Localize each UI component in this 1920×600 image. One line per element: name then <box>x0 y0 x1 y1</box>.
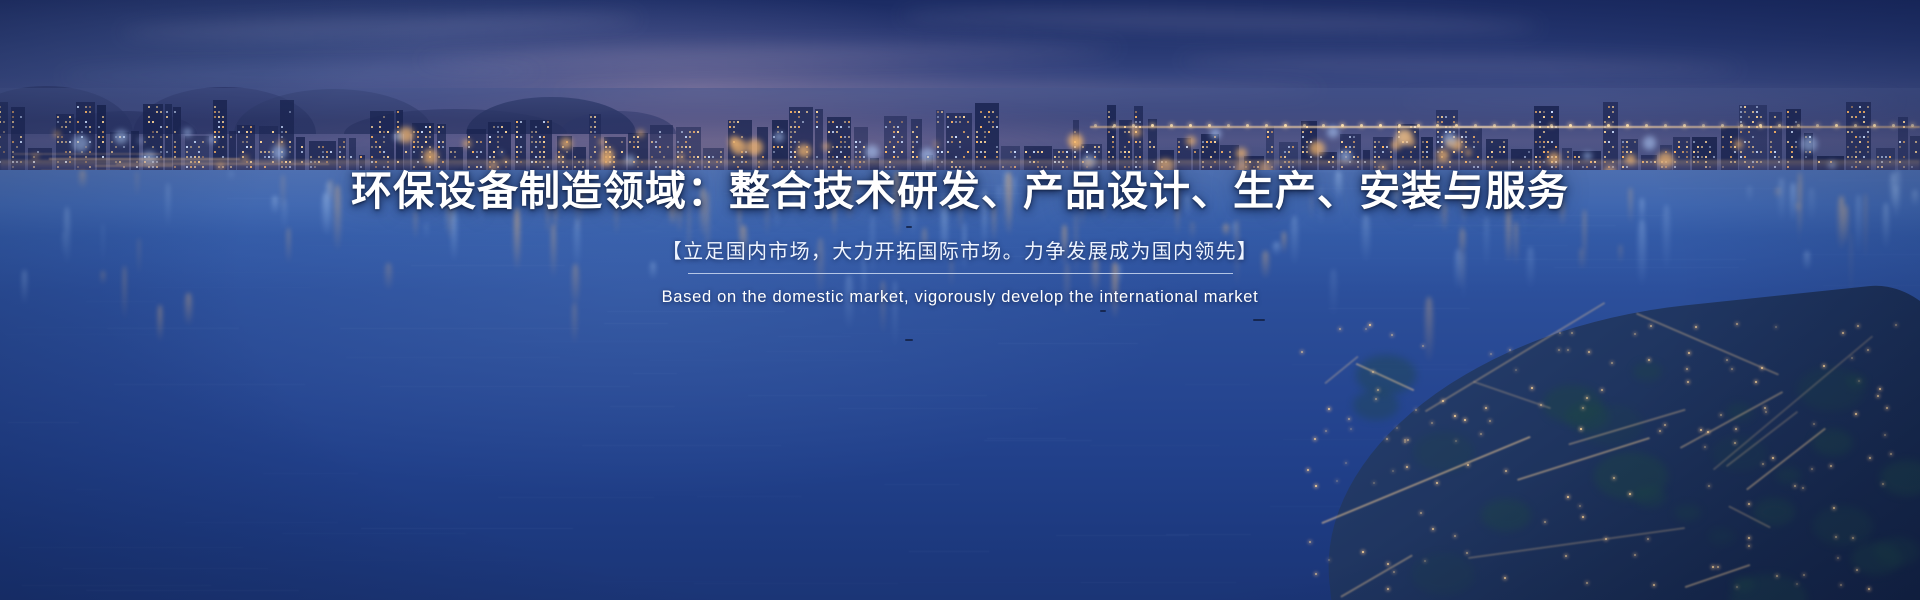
banner-english-tagline: Based on the domestic market, vigorously… <box>662 288 1259 307</box>
text-divider <box>688 273 1233 274</box>
banner-content: 环保设备制造领域：整合技术研发、产品设计、生产、安装与服务 【立足国内市场，大力… <box>0 0 1920 600</box>
banner-headline: 环保设备制造领域：整合技术研发、产品设计、生产、安装与服务 <box>351 168 1569 215</box>
hero-banner: 环保设备制造领域：整合技术研发、产品设计、生产、安装与服务 【立足国内市场，大力… <box>0 0 1920 600</box>
banner-subheadline: 【立足国内市场，大力开拓国际市场。力争发展成为国内领先】 <box>662 235 1258 264</box>
